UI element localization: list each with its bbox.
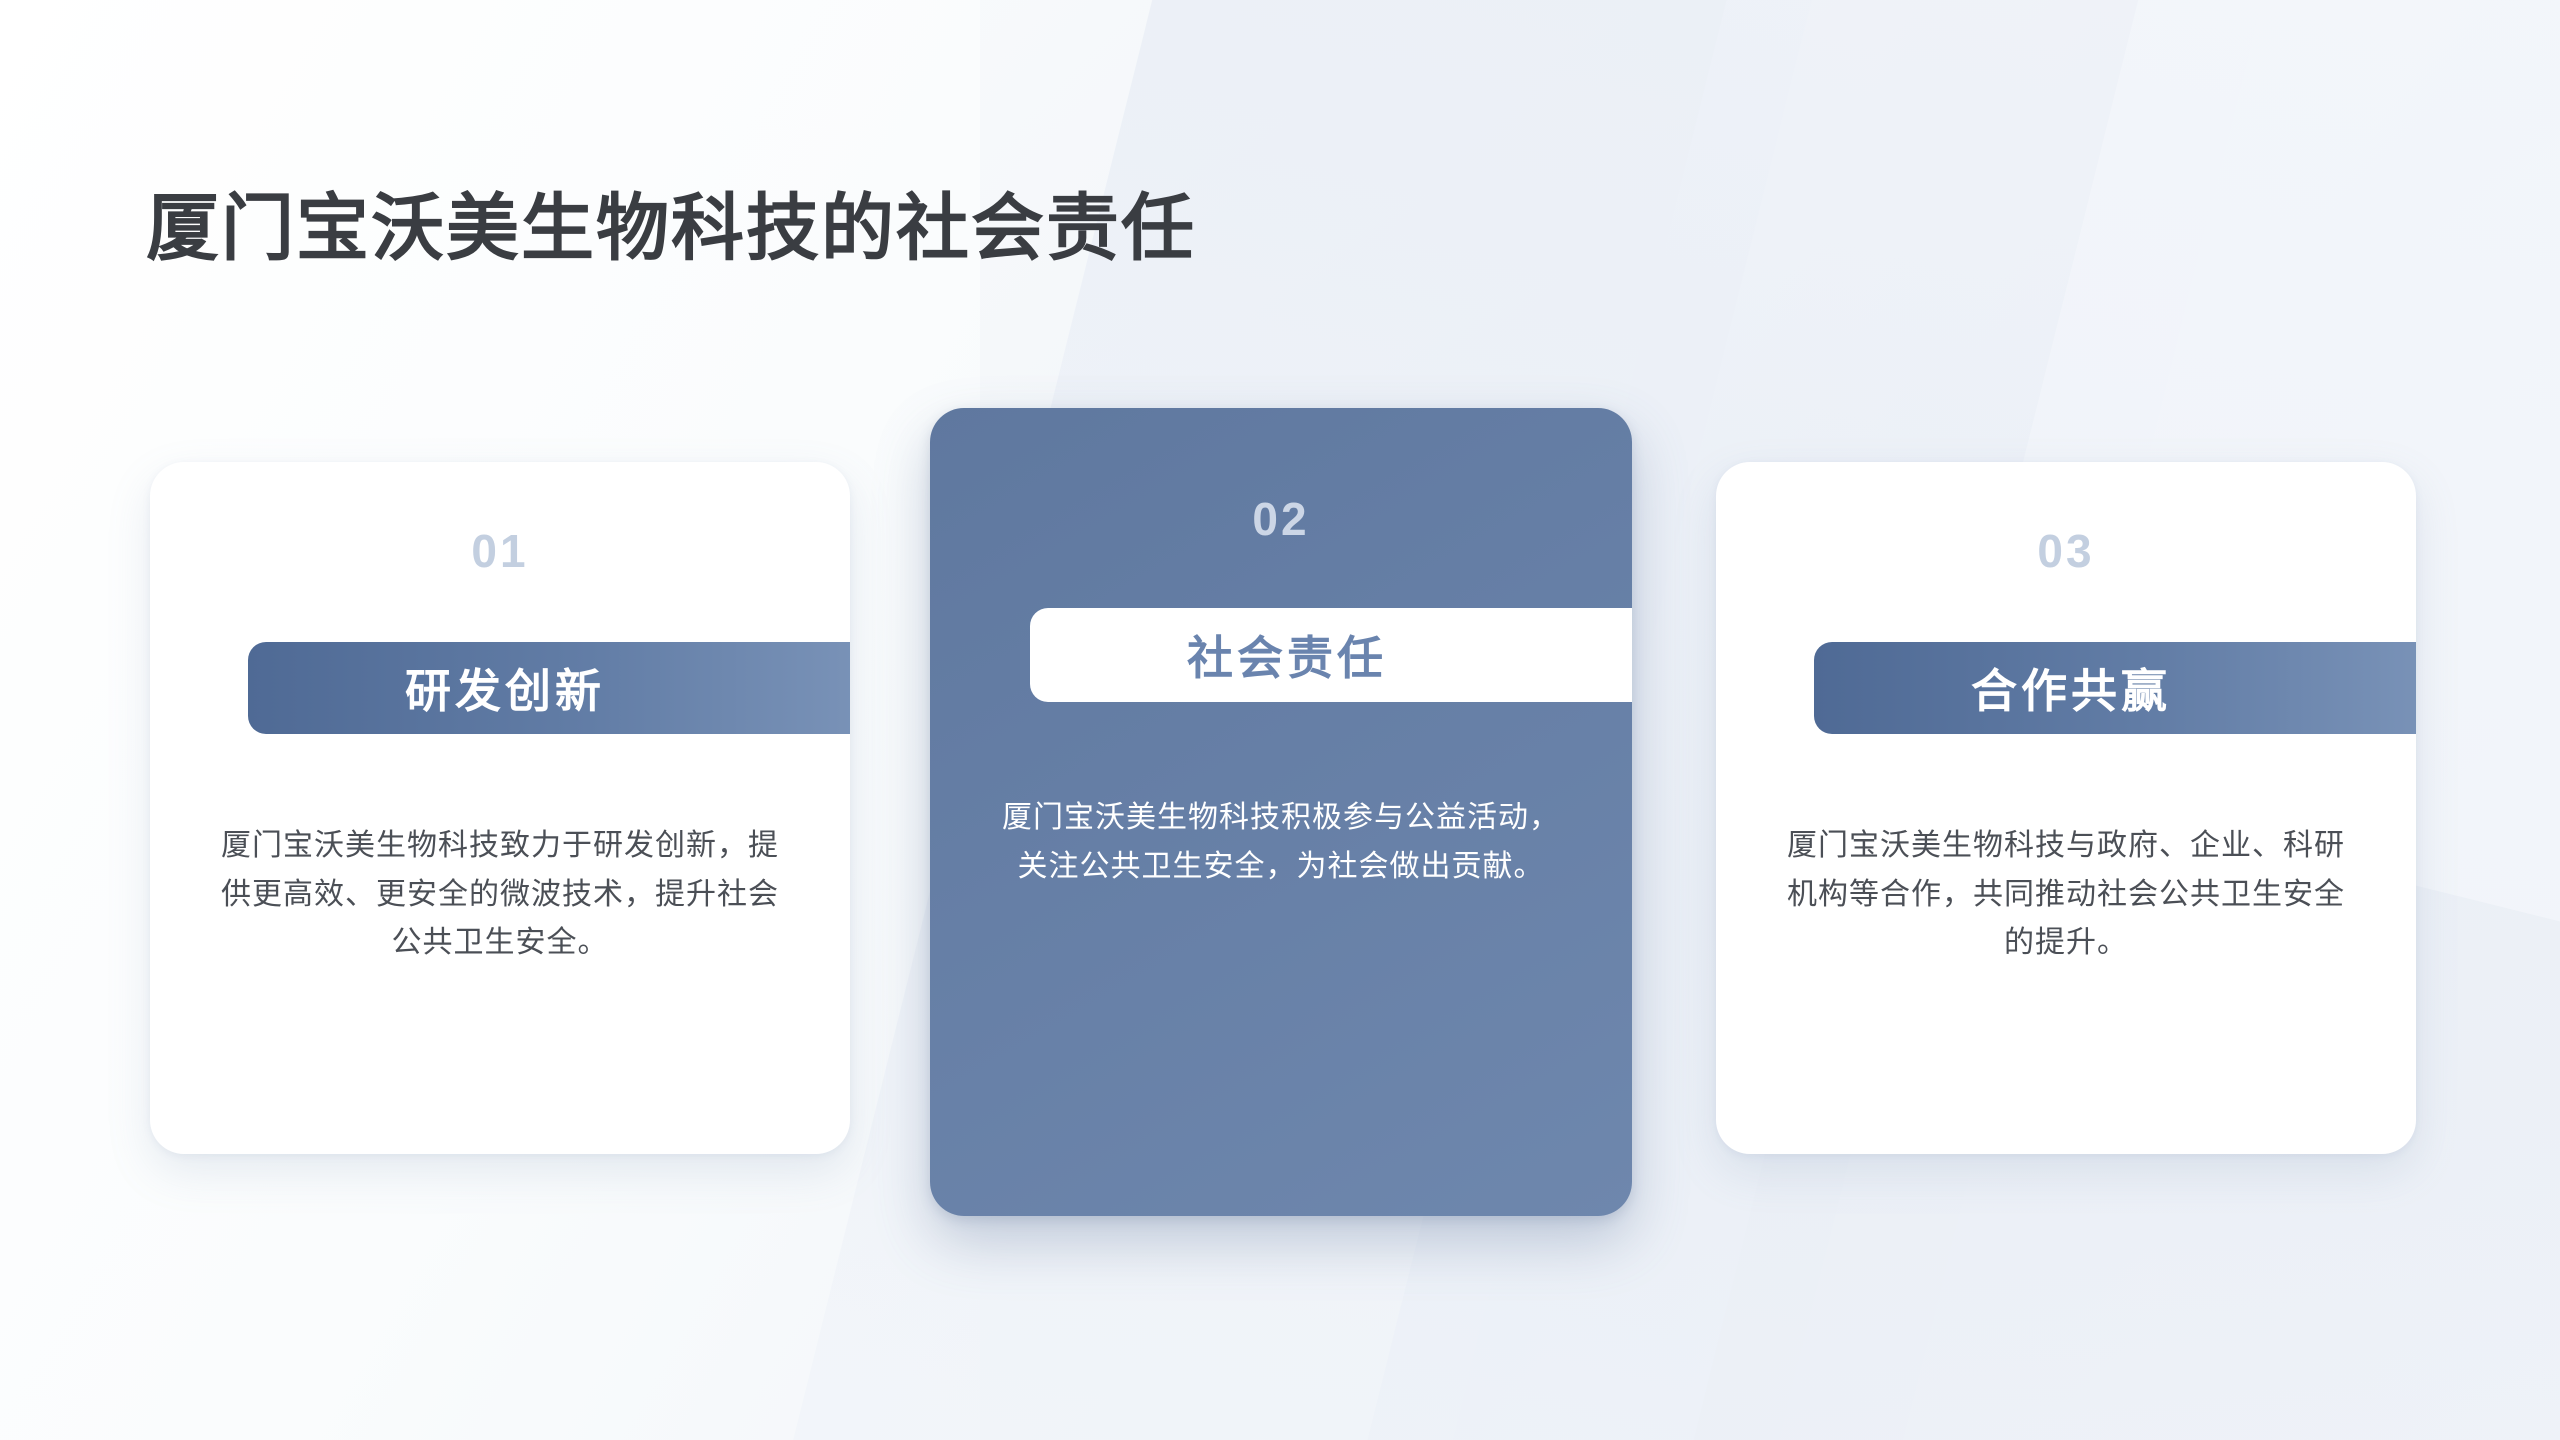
card-deck: 01 研发创新 厦门宝沃美生物科技致力于研发创新，提供更高效、更安全的微波技术，… [0,0,2560,1440]
card-number: 01 [150,524,850,578]
card-banner: 合作共赢 [1814,642,2416,734]
card-description: 厦门宝沃美生物科技致力于研发创新，提供更高效、更安全的微波技术，提升社会公共卫生… [210,822,790,968]
card-win-win-cooperation[interactable]: 03 合作共赢 厦门宝沃美生物科技与政府、企业、科研机构等合作，共同推动社会公共… [1716,462,2416,1154]
slide-canvas: 厦门宝沃美生物科技的社会责任 01 研发创新 厦门宝沃美生物科技致力于研发创新，… [0,0,2560,1440]
card-research-innovation[interactable]: 01 研发创新 厦门宝沃美生物科技致力于研发创新，提供更高效、更安全的微波技术，… [150,462,850,1154]
card-banner-label: 研发创新 [405,655,605,721]
card-banner: 研发创新 [248,642,850,734]
card-number: 03 [1716,524,2416,578]
card-description: 厦门宝沃美生物科技积极参与公益活动，关注公共卫生安全，为社会做出贡献。 [990,794,1572,891]
card-banner-label: 社会责任 [1187,622,1387,688]
card-banner: 社会责任 [1030,608,1632,702]
card-description: 厦门宝沃美生物科技与政府、企业、科研机构等合作，共同推动社会公共卫生安全的提升。 [1776,822,2356,968]
card-number: 02 [930,492,1632,546]
card-social-responsibility[interactable]: 02 社会责任 厦门宝沃美生物科技积极参与公益活动，关注公共卫生安全，为社会做出… [930,408,1632,1216]
card-banner-label: 合作共赢 [1971,655,2171,721]
